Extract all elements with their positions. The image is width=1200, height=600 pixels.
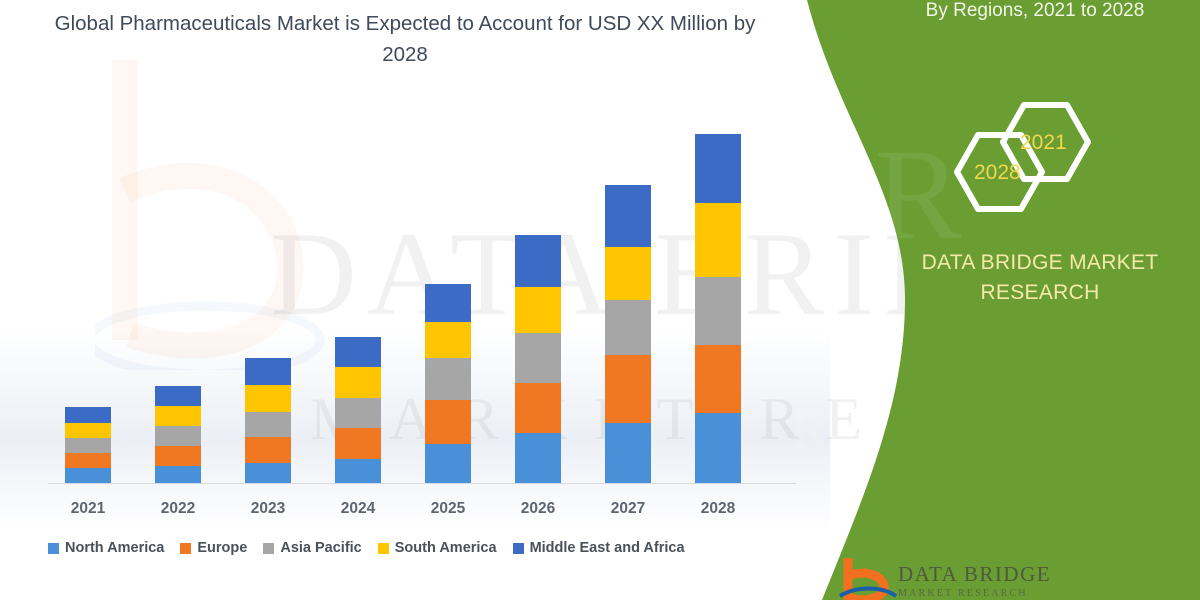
bar-segment	[65, 453, 111, 468]
brand-line-1: DATA BRIDGE MARKET	[922, 251, 1159, 274]
legend-swatch-icon	[263, 543, 274, 554]
bar-segment	[245, 358, 291, 385]
brand-line-2: RESEARCH	[980, 281, 1099, 304]
bar-segment	[605, 185, 651, 247]
x-axis-label-2024: 2024	[313, 500, 403, 518]
x-axis-label-2022: 2022	[133, 500, 223, 518]
bar-segment	[65, 468, 111, 483]
bar-segment	[695, 277, 741, 345]
legend-item-middle-east-and-africa[interactable]: Middle East and Africa	[513, 540, 685, 556]
bar-2027	[605, 185, 651, 483]
bar-2023	[245, 358, 291, 483]
bar-segment	[515, 333, 561, 383]
x-axis-labels: 20212022202320242025202620272028	[0, 500, 830, 526]
legend-swatch-icon	[180, 543, 191, 554]
legend-label: North America	[65, 540, 164, 556]
panel-heading: By Regions, 2021 to 2028	[880, 0, 1190, 24]
x-axis-label-2028: 2028	[673, 500, 763, 518]
bar-2025	[425, 284, 471, 483]
bar-2024	[335, 337, 381, 483]
bar-segment	[425, 444, 471, 483]
hexagon-badges: 2021 2028	[920, 95, 1130, 220]
brand-name: DATA BRIDGE MARKET RESEARCH	[895, 248, 1185, 308]
bar-segment	[695, 203, 741, 277]
legend-swatch-icon	[513, 543, 524, 554]
legend-swatch-icon	[48, 543, 59, 554]
bar-segment	[65, 423, 111, 438]
bar-segment	[605, 423, 651, 483]
x-axis-label-2027: 2027	[583, 500, 673, 518]
legend-label: Europe	[197, 540, 247, 556]
bar-2021	[65, 407, 111, 483]
bar-segment	[335, 459, 381, 483]
bar-segment	[515, 433, 561, 483]
footer-logo: DATA BRIDGE MARKET RESEARCH	[838, 556, 1088, 600]
bar-segment	[335, 367, 381, 398]
bar-segment	[65, 407, 111, 423]
legend-item-europe[interactable]: Europe	[180, 540, 247, 556]
legend-item-asia-pacific[interactable]: Asia Pacific	[263, 540, 361, 556]
footer-logo-tagline: MARKET RESEARCH	[898, 588, 1028, 599]
bar-segment	[515, 235, 561, 287]
legend-item-south-america[interactable]: South America	[378, 540, 497, 556]
bar-segment	[245, 385, 291, 412]
bar-segment	[695, 413, 741, 483]
legend-label: South America	[395, 540, 497, 556]
legend-label: Asia Pacific	[280, 540, 361, 556]
bar-segment	[335, 428, 381, 459]
bar-segment	[245, 463, 291, 483]
stacked-bar-chart: 20212022202320242025202620272028	[0, 0, 830, 600]
bar-segment	[425, 322, 471, 358]
hexagon-outline-icon	[920, 95, 1130, 220]
panel-content: BR R By Regions, 2021 to 2028 2021 2028 …	[900, 0, 1200, 600]
panel-watermark-sub: R	[790, 395, 851, 462]
infographic-root: DATA BRIDGE MARKET RESEARCH Global Pharm…	[0, 0, 1200, 600]
x-axis-label-2025: 2025	[403, 500, 493, 518]
bar-segment	[605, 247, 651, 300]
legend-item-north-america[interactable]: North America	[48, 540, 164, 556]
bar-2028	[695, 134, 741, 483]
x-axis-line	[48, 483, 796, 484]
bar-segment	[65, 438, 111, 453]
footer-logo-name: DATA BRIDGE	[898, 562, 1051, 587]
bar-segment	[245, 412, 291, 437]
legend-label: Middle East and Africa	[530, 540, 685, 556]
bar-segment	[155, 386, 201, 406]
legend-swatch-icon	[378, 543, 389, 554]
hex-badge-2021: 2021	[1020, 131, 1067, 155]
bar-segment	[515, 383, 561, 433]
hex-badge-2028: 2028	[974, 161, 1021, 185]
bar-segment	[155, 446, 201, 466]
bar-segment	[245, 437, 291, 463]
bar-segment	[155, 426, 201, 446]
x-axis-label-2021: 2021	[43, 500, 133, 518]
bar-segment	[605, 355, 651, 423]
bar-segment	[155, 406, 201, 426]
bar-2022	[155, 386, 201, 483]
bar-segment	[695, 345, 741, 413]
chart-legend: North AmericaEuropeAsia PacificSouth Ame…	[48, 540, 685, 556]
bar-segment	[515, 287, 561, 333]
x-axis-label-2023: 2023	[223, 500, 313, 518]
bar-segment	[425, 358, 471, 400]
bar-segment	[695, 134, 741, 203]
bar-segment	[425, 400, 471, 444]
bar-2026	[515, 235, 561, 483]
bar-segment	[425, 284, 471, 322]
bar-segment	[335, 337, 381, 367]
x-axis-label-2026: 2026	[493, 500, 583, 518]
bridge-mark-icon	[838, 556, 898, 600]
bar-segment	[335, 398, 381, 428]
bar-segment	[605, 300, 651, 355]
bar-segment	[155, 466, 201, 483]
